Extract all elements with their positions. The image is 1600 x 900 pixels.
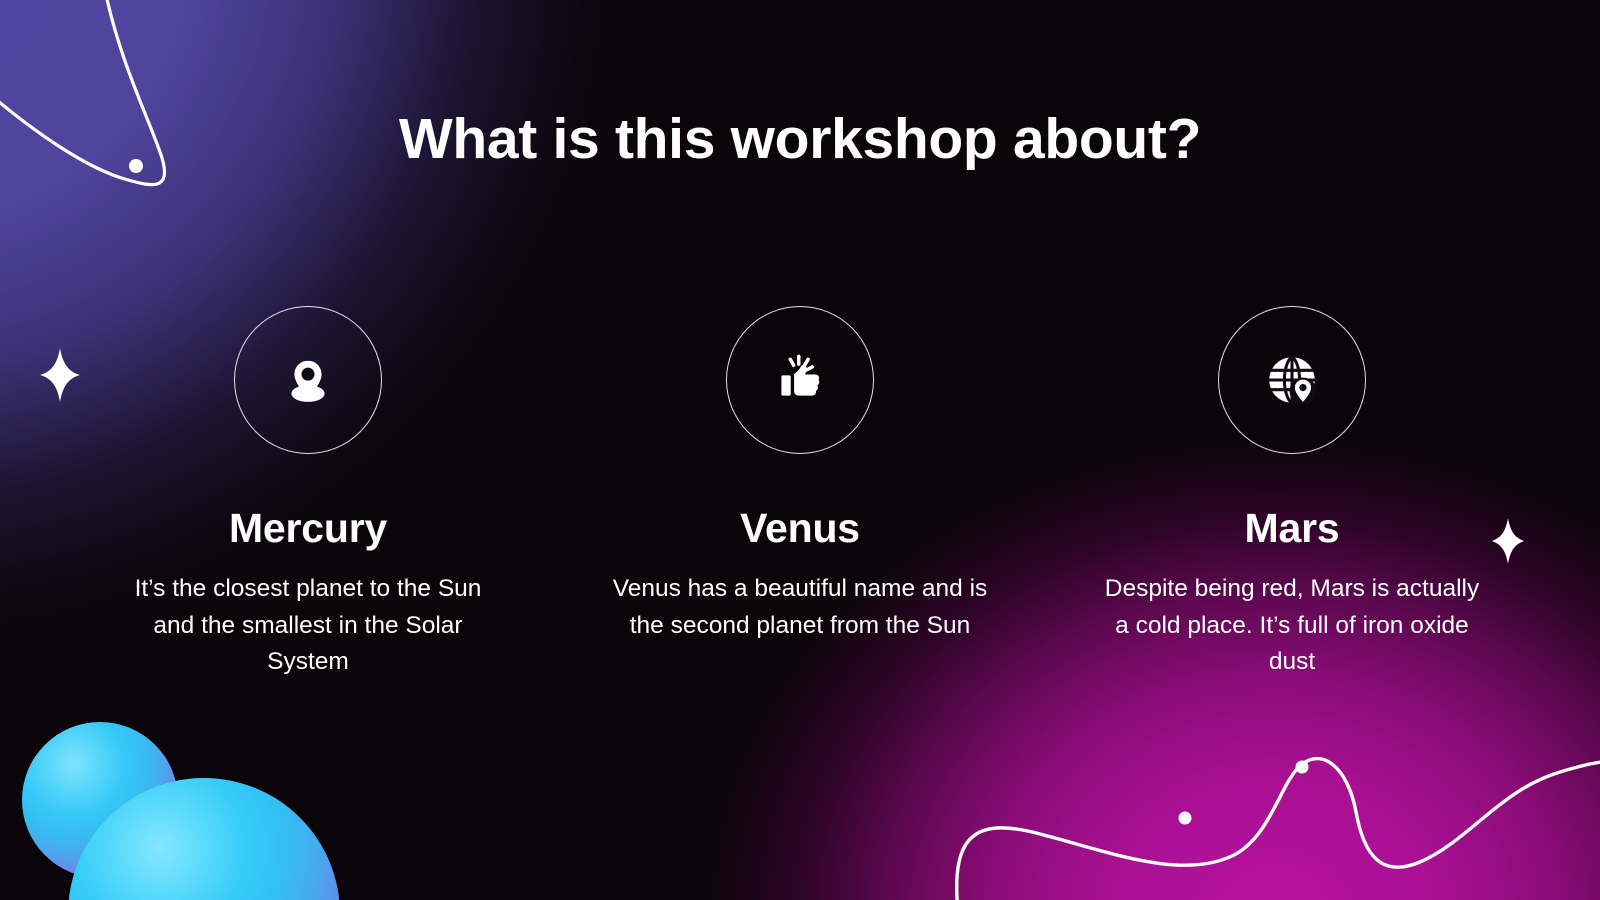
column-body-venus: Venus has a beautiful name and is the se… (610, 571, 990, 644)
feature-column-mercury: Mercury It’s the closest planet to the S… (98, 306, 518, 681)
icon-circle-mercury (234, 306, 382, 454)
feature-columns: Mercury It’s the closest planet to the S… (98, 306, 1502, 681)
globe-location-icon (1265, 353, 1319, 407)
page-title: What is this workshop about? (0, 108, 1600, 172)
feature-column-mars: Mars Despite being red, Mars is actually… (1082, 306, 1502, 681)
icon-circle-venus (726, 306, 874, 454)
column-body-mercury: It’s the closest planet to the Sun and t… (118, 571, 498, 681)
thumbs-up-icon (773, 353, 827, 407)
location-pin-icon (280, 352, 336, 408)
column-body-mars: Despite being red, Mars is actually a co… (1102, 571, 1482, 681)
presentation-slide: What is this workshop about? Mercury It’… (0, 0, 1600, 900)
column-title-mercury: Mercury (229, 506, 387, 551)
column-title-mars: Mars (1245, 506, 1340, 551)
column-title-venus: Venus (740, 506, 860, 551)
icon-circle-mars (1218, 306, 1366, 454)
feature-column-venus: Venus Venus has a beautiful name and is … (590, 306, 1010, 681)
